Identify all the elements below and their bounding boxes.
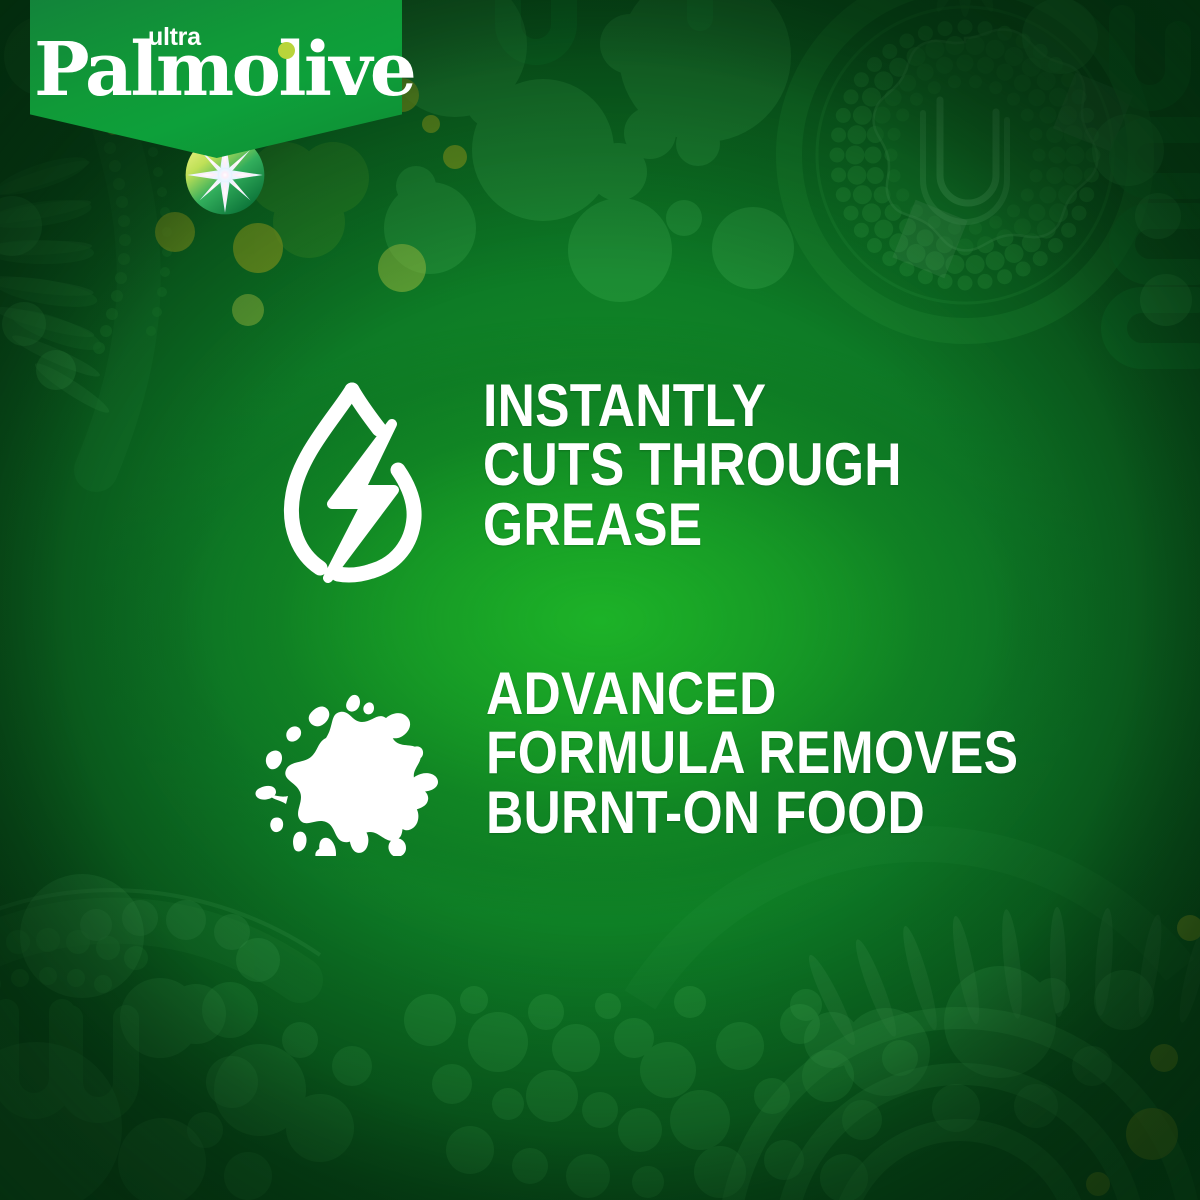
benefit-item: INSTANTLY CUTS THROUGH GREASE	[276, 372, 970, 594]
palmolive-ultra-promo-graphic: ultra Palmolive	[0, 0, 1200, 1200]
logo-i-dot	[278, 42, 295, 59]
benefit-item: ADVANCED FORMULA REMOVES BURNT-ON FOOD	[252, 662, 1105, 856]
splat-icon	[252, 692, 448, 856]
benefit-text: ADVANCED FORMULA REMOVES BURNT-ON FOOD	[486, 664, 1018, 842]
droplet-lightning-icon	[276, 378, 428, 594]
brand-logo-text: ultra Palmolive	[0, 0, 372, 132]
brand-name-palmolive: Palmolive	[34, 33, 414, 107]
benefit-text: INSTANTLY CUTS THROUGH GREASE	[483, 376, 902, 554]
lightning-bolt-shape	[328, 424, 394, 578]
splat-blob	[256, 695, 438, 856]
background-pattern	[0, 0, 1200, 1200]
